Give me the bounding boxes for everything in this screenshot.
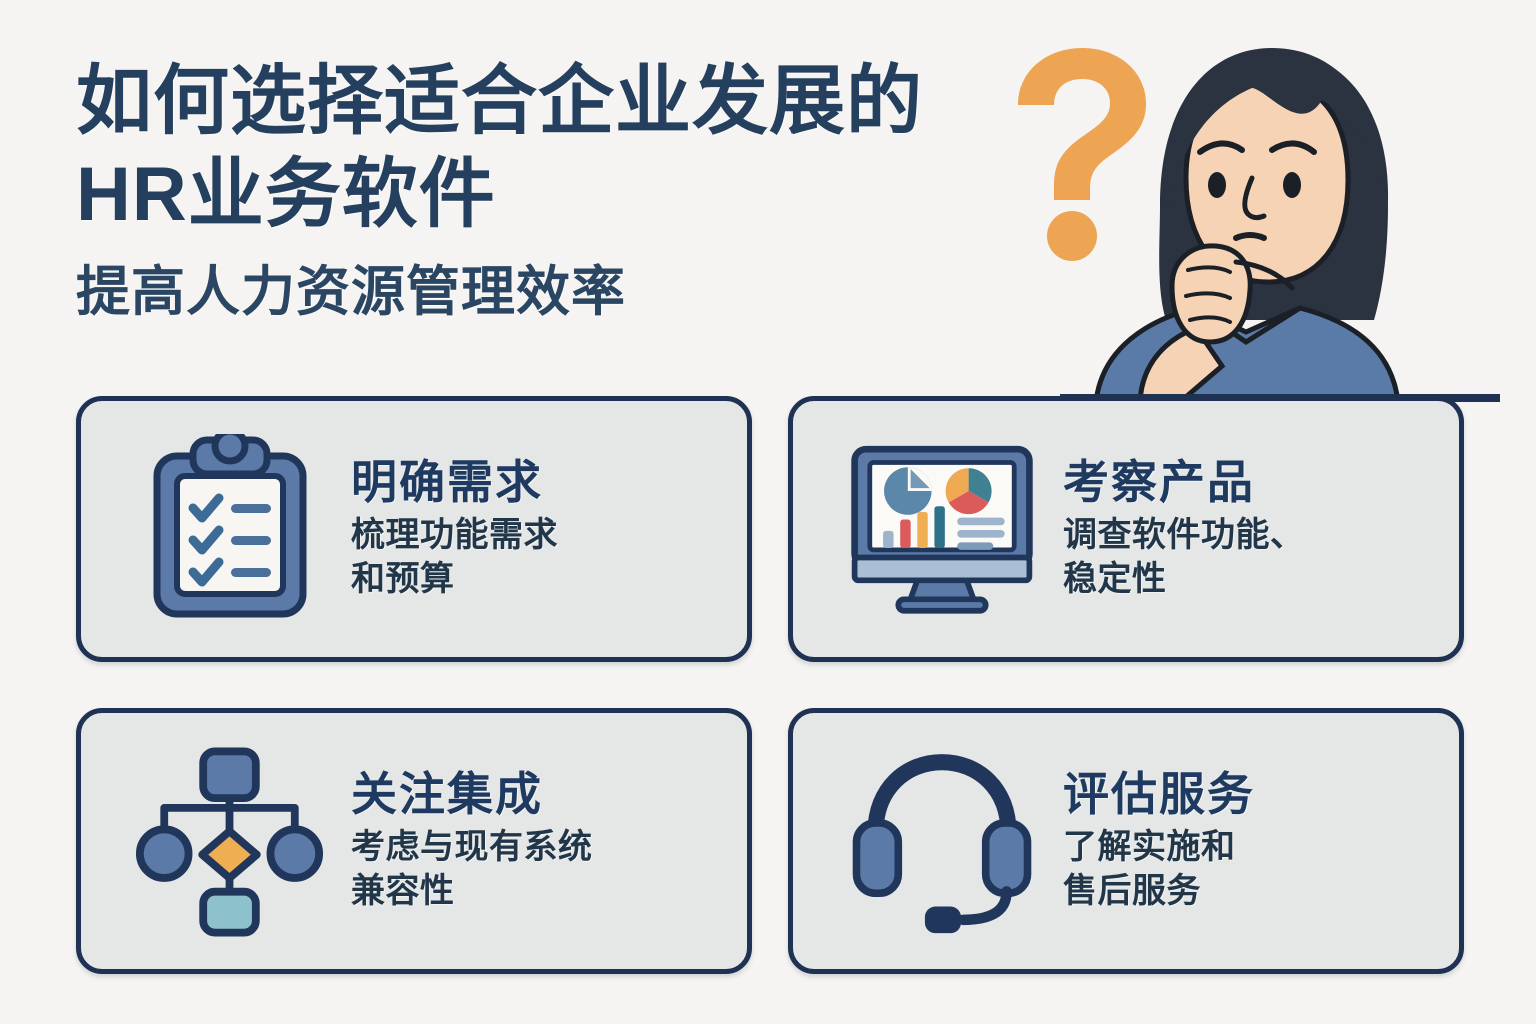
card-text: 关注集成 考虑与现有系统 兼容性 xyxy=(351,769,727,914)
card-description-line-1: 考虑与现有系统 xyxy=(351,826,727,870)
card-focus-integration[interactable]: 关注集成 考虑与现有系统 兼容性 xyxy=(76,708,752,974)
headset-support-icon xyxy=(847,741,1037,941)
card-description-line-2: 和预算 xyxy=(351,558,727,602)
page-title-line-1: 如何选择适合企业发展的 xyxy=(76,56,1036,149)
card-text: 考察产品 调查软件功能、 稳定性 xyxy=(1063,457,1439,602)
card-define-requirements[interactable]: 明确需求 梳理功能需求 和预算 xyxy=(76,396,752,662)
page-subtitle: 提高人力资源管理效率 xyxy=(76,257,1036,327)
card-description: 了解实施和 售后服务 xyxy=(1063,826,1439,913)
card-description-line-2: 稳定性 xyxy=(1063,558,1439,602)
card-description: 考虑与现有系统 兼容性 xyxy=(351,826,727,913)
card-grid: 明确需求 梳理功能需求 和预算 xyxy=(76,396,1464,974)
card-text: 明确需求 梳理功能需求 和预算 xyxy=(351,457,727,602)
card-title: 关注集成 xyxy=(351,769,727,821)
flowchart-integration-icon xyxy=(135,741,325,941)
card-description-line-1: 调查软件功能、 xyxy=(1063,514,1439,558)
card-description-line-2: 售后服务 xyxy=(1063,870,1439,914)
page-title-line-2: HR业务软件 xyxy=(76,149,1036,242)
card-description: 梳理功能需求 和预算 xyxy=(351,514,727,601)
infographic-page: 如何选择适合企业发展的 HR业务软件 提高人力资源管理效率 xyxy=(0,0,1536,1024)
card-title: 考察产品 xyxy=(1063,457,1439,509)
card-title: 评估服务 xyxy=(1063,769,1439,821)
card-text: 评估服务 了解实施和 售后服务 xyxy=(1063,769,1439,914)
clipboard-checklist-icon xyxy=(135,429,325,629)
header: 如何选择适合企业发展的 HR业务软件 提高人力资源管理效率 xyxy=(76,56,1036,328)
card-description-line-2: 兼容性 xyxy=(351,870,727,914)
card-assess-service[interactable]: 评估服务 了解实施和 售后服务 xyxy=(788,708,1464,974)
question-mark-icon xyxy=(1018,48,1146,261)
card-title: 明确需求 xyxy=(351,457,727,509)
thinking-woman-illustration xyxy=(1000,30,1500,402)
monitor-charts-icon xyxy=(847,429,1037,629)
card-description-line-1: 梳理功能需求 xyxy=(351,514,727,558)
card-evaluate-product[interactable]: 考察产品 调查软件功能、 稳定性 xyxy=(788,396,1464,662)
card-description-line-1: 了解实施和 xyxy=(1063,826,1439,870)
card-description: 调查软件功能、 稳定性 xyxy=(1063,514,1439,601)
